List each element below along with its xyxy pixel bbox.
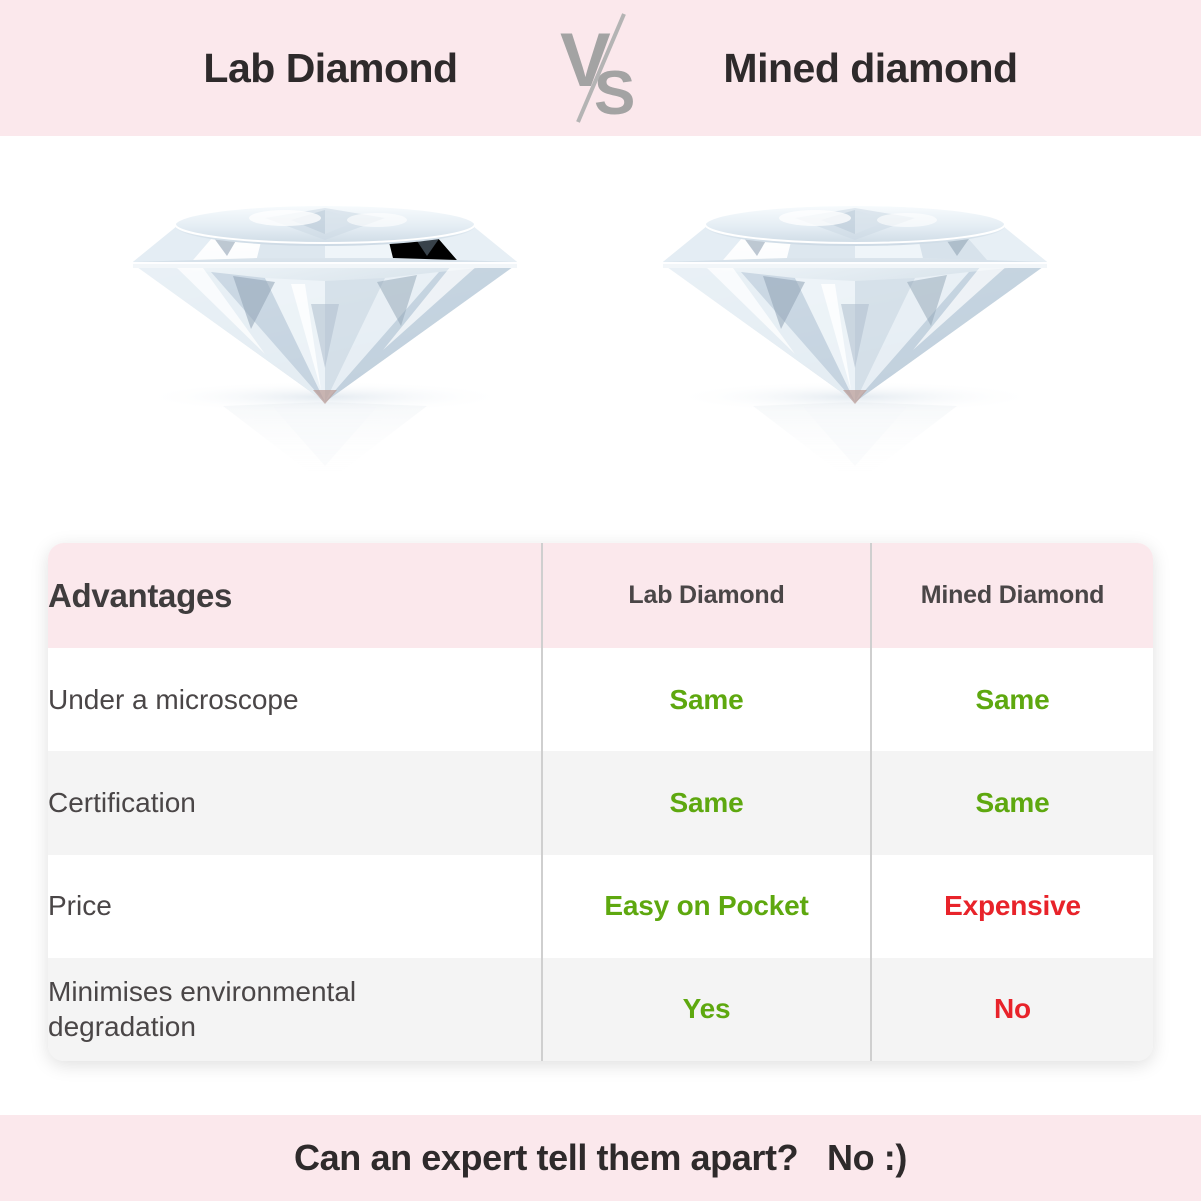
diamond-stage [0,136,1201,526]
row-value-lab: Same [542,751,871,854]
header-title-lab: Lab Diamond [116,45,546,92]
table-row: Minimises environmental degradation Yes … [48,958,1153,1061]
mined-diamond-image [645,154,1065,494]
feature-text: Under a microscope [48,682,299,718]
table-header: Advantages Lab Diamond Mined Diamond [48,543,1153,648]
versus-icon: V S [546,8,656,128]
infographic-page: Lab Diamond V S Mined diamond [0,0,1201,1201]
row-value-mined: No [871,958,1153,1061]
table-body: Under a microscope Same Same Certificati… [48,648,1153,1061]
table-row: Certification Same Same [48,751,1153,854]
row-value-mined: Same [871,648,1153,751]
footer-band: Can an expert tell them apart? No :) [0,1115,1201,1201]
header-band: Lab Diamond V S Mined diamond [0,0,1201,136]
row-value-mined: Expensive [871,855,1153,958]
row-value-lab: Easy on Pocket [542,855,871,958]
row-value-lab: Yes [542,958,871,1061]
lab-diamond-image [115,154,535,494]
feature-text: Certification [48,785,196,821]
comparison-table-card: Advantages Lab Diamond Mined Diamond Und… [48,543,1153,1061]
row-feature-label: Under a microscope [48,648,542,751]
row-feature-label: Minimises environmental degradation [48,958,542,1061]
row-value-lab: Same [542,648,871,751]
footer-question: Can an expert tell them apart? No :) [294,1137,907,1179]
table-row: Price Easy on Pocket Expensive [48,855,1153,958]
column-header-advantages: Advantages [48,543,542,648]
table-row: Under a microscope Same Same [48,648,1153,751]
row-value-mined: Same [871,751,1153,854]
feature-text: Price [48,888,112,924]
header-title-mined: Mined diamond [656,45,1086,92]
column-header-lab-diamond: Lab Diamond [542,543,871,648]
row-feature-label: Certification [48,751,542,854]
column-header-mined-diamond: Mined Diamond [871,543,1153,648]
comparison-table: Advantages Lab Diamond Mined Diamond Und… [48,543,1153,1061]
row-feature-label: Price [48,855,542,958]
feature-text: Minimises environmental degradation [48,974,488,1046]
table-header-row: Advantages Lab Diamond Mined Diamond [48,543,1153,648]
